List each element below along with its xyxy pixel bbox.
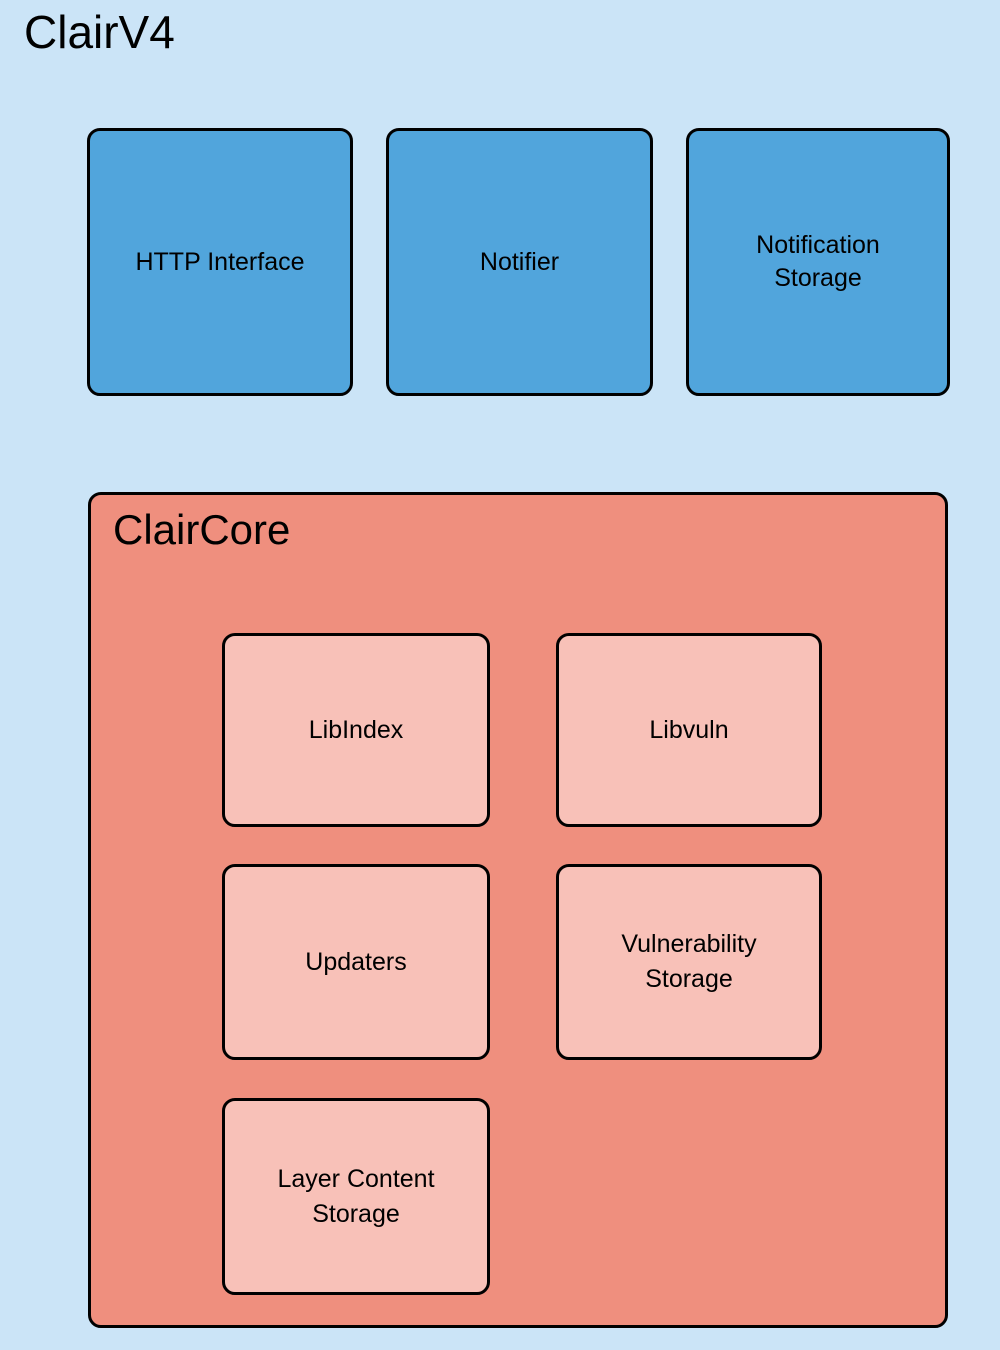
node-notifier-label: Notifier xyxy=(470,246,569,279)
node-libindex-label: LibIndex xyxy=(299,713,414,748)
diagram-canvas: ClairV4 HTTP Interface Notifier Notifica… xyxy=(0,0,1000,1350)
group-claircore-title: ClairCore xyxy=(113,503,290,557)
node-notifier[interactable]: Notifier xyxy=(386,128,653,396)
node-layer-content-storage[interactable]: Layer Content Storage xyxy=(222,1098,490,1295)
node-http-interface-label: HTTP Interface xyxy=(125,246,314,279)
node-libindex[interactable]: LibIndex xyxy=(222,633,490,827)
node-updaters-label: Updaters xyxy=(295,945,416,980)
node-notification-storage[interactable]: Notification Storage xyxy=(686,128,950,396)
node-http-interface[interactable]: HTTP Interface xyxy=(87,128,353,396)
node-updaters[interactable]: Updaters xyxy=(222,864,490,1060)
node-libvuln-label: Libvuln xyxy=(639,713,738,748)
node-notification-storage-label: Notification Storage xyxy=(746,229,890,295)
node-vulnerability-storage[interactable]: Vulnerability Storage xyxy=(556,864,822,1060)
diagram-title: ClairV4 xyxy=(24,4,175,60)
node-layer-content-storage-label: Layer Content Storage xyxy=(267,1162,444,1232)
node-libvuln[interactable]: Libvuln xyxy=(556,633,822,827)
group-claircore[interactable]: ClairCore LibIndex Libvuln Updaters Vuln… xyxy=(88,492,948,1328)
node-vulnerability-storage-label: Vulnerability Storage xyxy=(611,927,766,997)
